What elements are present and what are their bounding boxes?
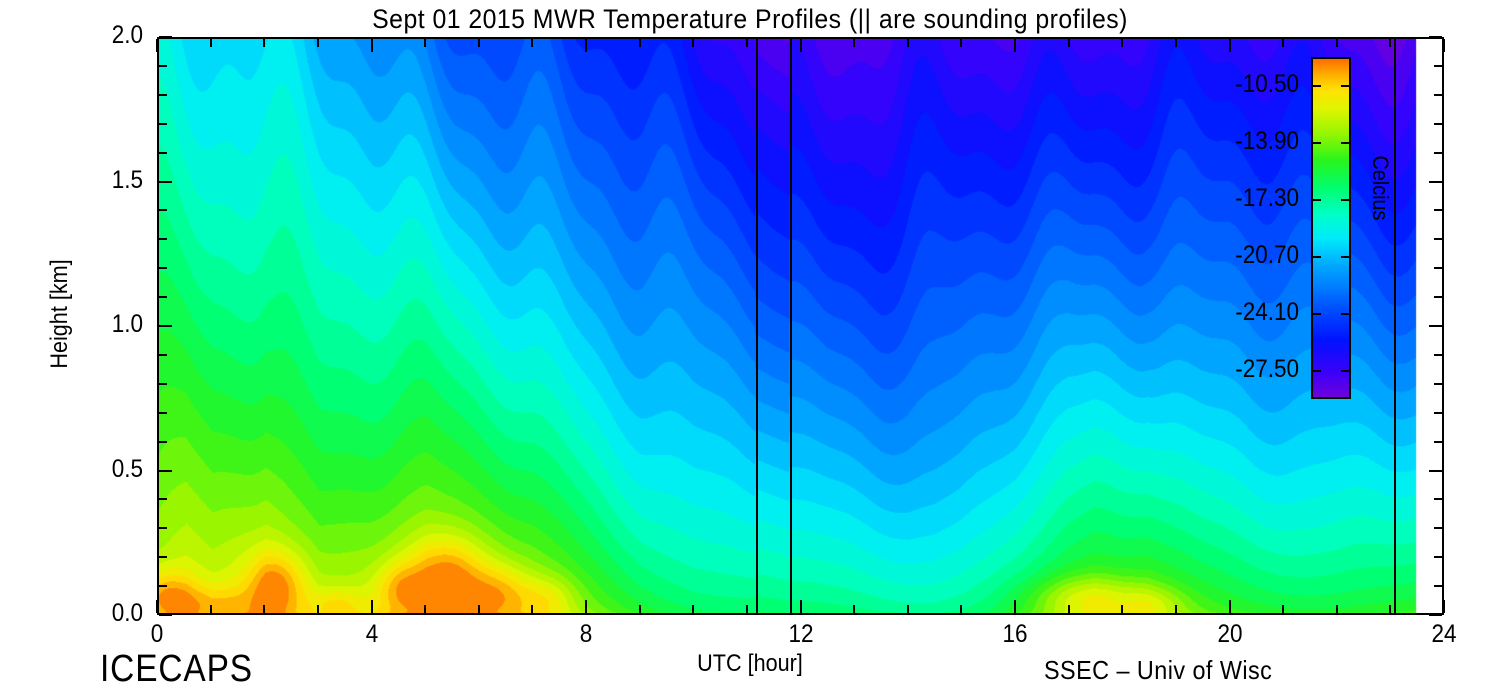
colorbar-tick-label: -24.10 xyxy=(1182,298,1299,327)
x-tick-top xyxy=(371,39,373,52)
x-tick-label: 20 xyxy=(1194,620,1266,649)
x-tick xyxy=(263,605,265,613)
x-tick-top xyxy=(800,39,802,52)
y-tick-right xyxy=(1434,441,1442,443)
sounding-line xyxy=(790,39,792,613)
y-tick-right xyxy=(1434,296,1442,298)
x-tick xyxy=(692,605,694,613)
y-tick-right xyxy=(1434,123,1442,125)
x-tick-top xyxy=(156,39,158,52)
x-tick-top xyxy=(585,39,587,52)
y-tick-right xyxy=(1434,556,1442,558)
x-tick-label: 16 xyxy=(979,620,1051,649)
x-tick xyxy=(853,605,855,613)
colorbar-tick xyxy=(1313,313,1321,315)
project-branding: ICECAPS xyxy=(100,648,253,691)
x-tick-top xyxy=(317,39,319,47)
colorbar-tick xyxy=(1313,142,1321,144)
y-tick-right xyxy=(1429,325,1442,327)
colorbar-title: Celcius xyxy=(1367,107,1393,269)
y-tick xyxy=(159,412,167,414)
x-tick-top xyxy=(960,39,962,47)
x-tick-top xyxy=(478,39,480,47)
colorbar-gradient xyxy=(1313,59,1349,397)
x-tick xyxy=(1389,605,1391,613)
x-tick xyxy=(960,605,962,613)
y-tick-right xyxy=(1434,65,1442,67)
x-tick xyxy=(531,605,533,613)
x-tick-top xyxy=(1121,39,1123,47)
x-tick xyxy=(478,605,480,613)
y-tick xyxy=(159,585,167,587)
x-tick-top xyxy=(639,39,641,47)
colorbar-tick xyxy=(1341,313,1349,315)
y-tick-right xyxy=(1434,354,1442,356)
x-tick-top xyxy=(424,39,426,47)
x-tick-top xyxy=(210,39,212,47)
x-tick xyxy=(746,605,748,613)
y-tick-right xyxy=(1434,209,1442,211)
x-tick xyxy=(1014,600,1016,613)
colorbar xyxy=(1311,57,1351,399)
y-tick-right xyxy=(1434,585,1442,587)
sounding-line xyxy=(756,39,758,613)
colorbar-tick-label: -10.50 xyxy=(1182,70,1299,99)
y-tick-right xyxy=(1434,152,1442,154)
y-tick xyxy=(159,383,167,385)
colorbar-tick xyxy=(1313,85,1321,87)
x-tick-top xyxy=(1229,39,1231,52)
x-tick xyxy=(156,600,158,613)
x-tick xyxy=(424,605,426,613)
y-tick-right xyxy=(1434,267,1442,269)
x-tick-label: 8 xyxy=(550,620,622,649)
x-tick xyxy=(1336,605,1338,613)
x-tick xyxy=(585,600,587,613)
colorbar-tick xyxy=(1341,85,1349,87)
page-title: Sept 01 2015 MWR Temperature Profiles (|… xyxy=(60,4,1440,35)
y-tick xyxy=(159,470,172,472)
y-tick xyxy=(159,441,167,443)
x-tick-top xyxy=(853,39,855,47)
colorbar-tick xyxy=(1313,256,1321,258)
x-tick-top xyxy=(1068,39,1070,47)
x-tick-label: 24 xyxy=(1408,620,1480,649)
x-tick-top xyxy=(263,39,265,47)
y-tick xyxy=(159,267,167,269)
x-tick xyxy=(639,605,641,613)
y-tick-right xyxy=(1434,94,1442,96)
colorbar-tick xyxy=(1341,370,1349,372)
y-tick-right xyxy=(1434,383,1442,385)
colorbar-tick xyxy=(1313,199,1321,201)
y-tick xyxy=(159,181,172,183)
y-tick xyxy=(159,354,167,356)
x-tick xyxy=(1175,605,1177,613)
y-tick-right xyxy=(1429,470,1442,472)
y-tick-label: 0.5 xyxy=(71,455,143,484)
y-tick-label: 2.0 xyxy=(71,21,143,50)
y-tick xyxy=(159,614,172,616)
colorbar-tick xyxy=(1313,370,1321,372)
y-axis-label: Height [km] xyxy=(46,224,74,404)
y-tick-label: 0.0 xyxy=(71,599,143,628)
colorbar-tick xyxy=(1341,142,1349,144)
x-tick-top xyxy=(907,39,909,47)
y-tick xyxy=(159,65,167,67)
x-tick xyxy=(1282,605,1284,613)
figure-root: Sept 01 2015 MWR Temperature Profiles (|… xyxy=(0,0,1500,700)
x-tick-top xyxy=(1336,39,1338,47)
y-tick-label: 1.5 xyxy=(71,166,143,195)
y-tick xyxy=(159,209,167,211)
x-tick-top xyxy=(531,39,533,47)
x-tick-top xyxy=(692,39,694,47)
colorbar-tick-label: -13.90 xyxy=(1182,127,1299,156)
y-tick-right xyxy=(1434,238,1442,240)
x-tick xyxy=(1443,600,1445,613)
x-tick-label: 4 xyxy=(336,620,408,649)
x-tick xyxy=(317,605,319,613)
y-tick xyxy=(159,152,167,154)
colorbar-tick-label: -20.70 xyxy=(1182,241,1299,270)
x-tick-label: 12 xyxy=(765,620,837,649)
colorbar-tick xyxy=(1341,199,1349,201)
x-tick xyxy=(800,600,802,613)
x-tick xyxy=(1229,600,1231,613)
y-tick xyxy=(159,36,172,38)
y-tick-right xyxy=(1429,614,1442,616)
y-tick xyxy=(159,556,167,558)
x-tick-top xyxy=(1175,39,1177,47)
x-tick xyxy=(907,605,909,613)
y-tick-right xyxy=(1429,181,1442,183)
y-tick-right xyxy=(1429,36,1442,38)
y-tick-right xyxy=(1434,527,1442,529)
x-tick-top xyxy=(1014,39,1016,52)
y-tick-right xyxy=(1434,412,1442,414)
colorbar-tick-label: -17.30 xyxy=(1182,184,1299,213)
y-tick xyxy=(159,296,167,298)
x-tick xyxy=(371,600,373,613)
y-tick xyxy=(159,527,167,529)
x-tick xyxy=(210,605,212,613)
x-tick xyxy=(1068,605,1070,613)
colorbar-tick xyxy=(1341,256,1349,258)
x-tick-top xyxy=(1282,39,1284,47)
x-tick-top xyxy=(1443,39,1445,52)
y-tick xyxy=(159,325,172,327)
y-tick-label: 1.0 xyxy=(71,310,143,339)
colorbar-tick-label: -27.50 xyxy=(1182,355,1299,384)
y-tick xyxy=(159,123,167,125)
institution-credit: SSEC – Univ of Wisc xyxy=(1044,655,1272,686)
x-tick-top xyxy=(1389,39,1391,47)
y-tick-right xyxy=(1434,498,1442,500)
y-tick xyxy=(159,498,167,500)
x-tick-top xyxy=(746,39,748,47)
sounding-line xyxy=(1394,39,1396,613)
y-tick xyxy=(159,238,167,240)
y-tick xyxy=(159,94,167,96)
x-tick xyxy=(1121,605,1123,613)
